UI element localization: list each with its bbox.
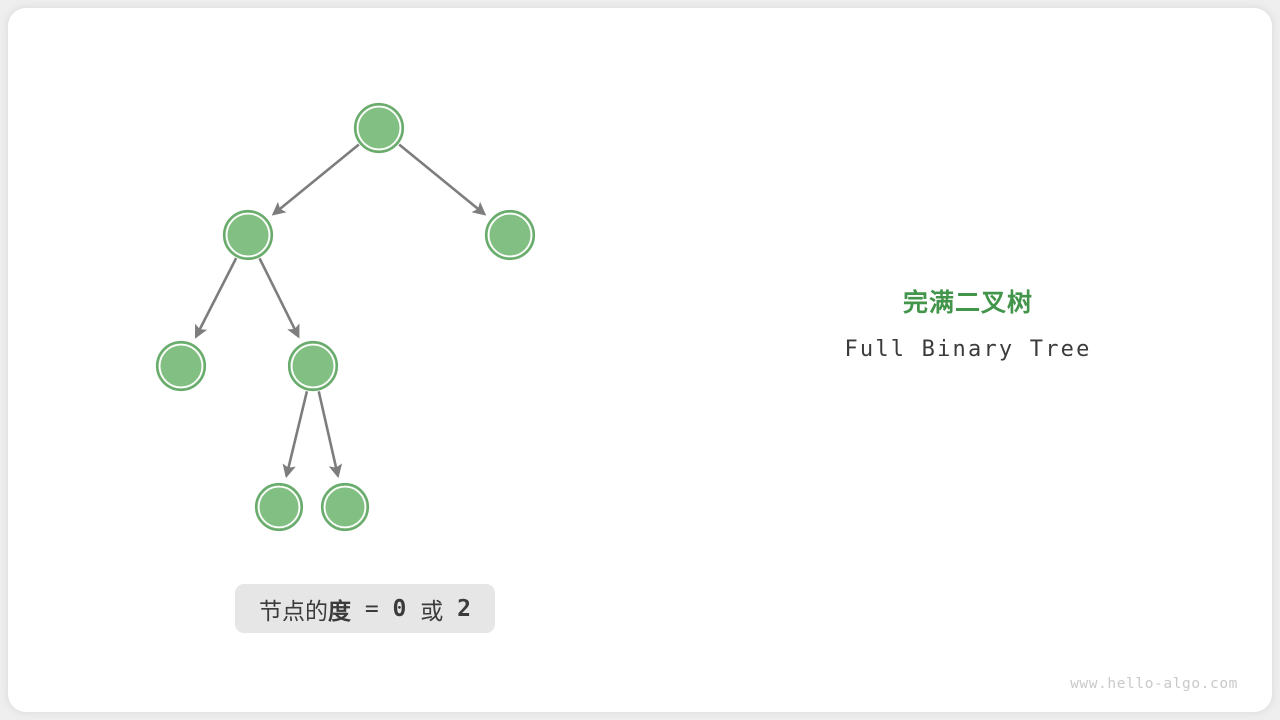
tree-node [157, 342, 205, 390]
caption-title: 完满二叉树 [768, 288, 1168, 318]
tree-node-fill [490, 215, 530, 255]
tree-node [289, 342, 337, 390]
tree-edge [287, 391, 307, 476]
tree-edge [274, 144, 359, 214]
tree-node-fill [293, 346, 333, 386]
tree-node [322, 484, 368, 530]
tree-node-fill [260, 488, 298, 526]
tree-node [355, 104, 403, 152]
degree-formula-label: 节点的度 = 0 或 2 [235, 584, 495, 633]
degree-label-prefix: 节点的 [259, 592, 328, 626]
tree-edge [196, 258, 236, 336]
tree-node [486, 211, 534, 259]
diagram-stage: 完满二叉树 Full Binary Tree 节点的度 = 0 或 2 www.… [0, 0, 1280, 720]
degree-label-term: 度 [328, 592, 351, 626]
degree-label-conjunction: 或 [406, 592, 457, 626]
degree-label-value-b: 2 [457, 596, 471, 622]
tree-edge [319, 391, 338, 475]
tree-node-fill [326, 488, 364, 526]
tree-nodes [157, 104, 534, 530]
tree-edges [196, 144, 484, 475]
tree-node-fill [359, 108, 399, 148]
tree-node-fill [161, 346, 201, 386]
tree-edge [260, 258, 299, 336]
tree-edge [399, 144, 484, 214]
tree-node [256, 484, 302, 530]
tree-node-fill [228, 215, 268, 255]
tree-node [224, 211, 272, 259]
caption-subtitle: Full Binary Tree [768, 337, 1168, 363]
site-watermark: www.hello-algo.com [1070, 676, 1238, 692]
caption-block: 完满二叉树 Full Binary Tree [768, 288, 1168, 363]
degree-label-equals: = [351, 596, 393, 622]
degree-label-value-a: 0 [393, 596, 407, 622]
